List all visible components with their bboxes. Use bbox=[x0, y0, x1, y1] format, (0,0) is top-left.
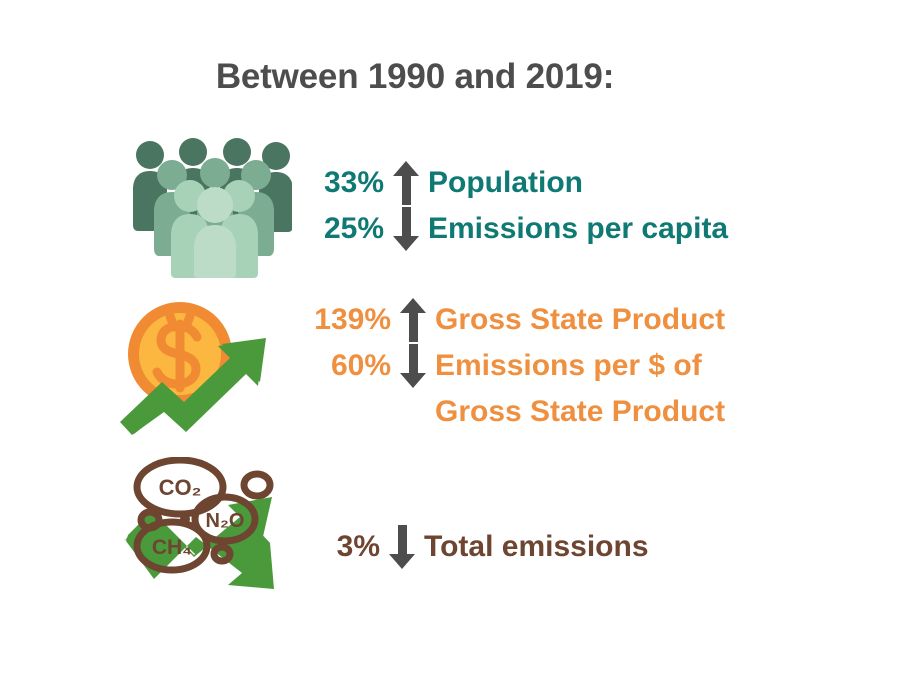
greenhouse-gas-decline-icon: CO₂ N₂O CH₄ bbox=[122, 457, 292, 637]
row-population: 33% Population 25% Emissions per capita bbox=[122, 133, 728, 278]
coin-growth-arrow-icon bbox=[118, 296, 273, 436]
page-title: Between 1990 and 2019: bbox=[0, 57, 830, 97]
stat-value: 3% bbox=[318, 524, 380, 570]
stat-line-population: 33% Population bbox=[308, 160, 728, 206]
arrow-down-icon bbox=[391, 343, 435, 389]
gsp-stats: 139% Gross State Product 60% Emissions p… bbox=[285, 297, 725, 435]
arrow-up-icon bbox=[384, 160, 428, 206]
population-stats: 33% Population 25% Emissions per capita bbox=[308, 160, 728, 252]
stat-label: Population bbox=[428, 160, 583, 206]
row-gross-state-product: 139% Gross State Product 60% Emissions p… bbox=[118, 296, 725, 436]
stat-value: 139% bbox=[285, 297, 391, 343]
stat-value: 25% bbox=[308, 206, 384, 252]
bubble-label-n2o: N₂O bbox=[206, 510, 245, 532]
stat-line-total-emissions: 3% Total emissions bbox=[318, 524, 649, 570]
stat-line-emissions-per-dollar: 60% Emissions per $ of Gross State Produ… bbox=[285, 343, 725, 435]
bubble-label-co2: CO₂ bbox=[159, 475, 202, 500]
people-crowd-icon bbox=[122, 133, 292, 278]
stat-line-emissions-per-capita: 25% Emissions per capita bbox=[308, 206, 728, 252]
stat-label: Total emissions bbox=[424, 524, 649, 570]
stat-line-gross-state-product: 139% Gross State Product bbox=[285, 297, 725, 343]
stat-label: Emissions per $ of Gross State Product bbox=[435, 343, 725, 435]
stat-value: 60% bbox=[285, 343, 391, 389]
total-emissions-stats: 3% Total emissions bbox=[318, 524, 649, 570]
bubble-label-ch4: CH₄ bbox=[152, 536, 192, 559]
arrow-down-icon bbox=[384, 206, 428, 252]
row-total-emissions: CO₂ N₂O CH₄ 3% Total emissions bbox=[122, 457, 649, 637]
arrow-up-icon bbox=[391, 297, 435, 343]
infographic-root: Between 1990 and 2019: bbox=[0, 0, 901, 676]
stat-value: 33% bbox=[308, 160, 384, 206]
stat-label: Emissions per capita bbox=[428, 206, 728, 252]
stat-label: Gross State Product bbox=[435, 297, 725, 343]
arrow-down-icon bbox=[380, 524, 424, 570]
